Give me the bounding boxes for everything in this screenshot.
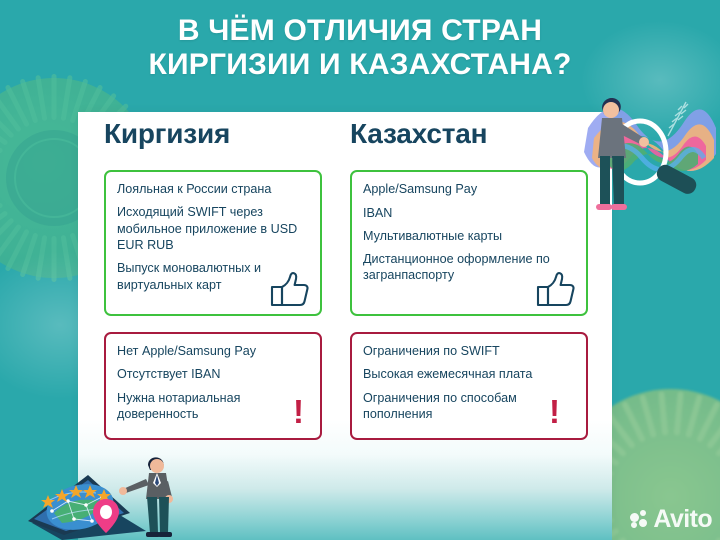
title-line-2: КИРГИЗИИ И КАЗАХСТАНА? xyxy=(0,48,720,82)
list-item: Мультивалютные карты xyxy=(363,228,576,244)
decorative-squiggle-icon xyxy=(648,96,698,146)
thumbs-up-icon xyxy=(534,270,576,308)
kyrgyzstan-pros-box: Лояльная к России страна Исходящий SWIFT… xyxy=(104,170,322,316)
avito-wordmark: Avito xyxy=(653,507,712,532)
list-item: Нет Apple/Samsung Pay xyxy=(117,343,310,359)
list-item: Нужна нотариальная доверенность xyxy=(117,390,310,423)
list-item: Отсутствует IBAN xyxy=(117,366,310,382)
list-item: Ограничения по способам пополнения xyxy=(363,390,576,423)
list-item: Высокая ежемесячная плата xyxy=(363,366,576,382)
list-item: Apple/Samsung Pay xyxy=(363,181,576,197)
kyrgyzstan-cons-box: Нет Apple/Samsung Pay Отсутствует IBAN Н… xyxy=(104,332,322,440)
list-item: Исходящий SWIFT через мобильное приложен… xyxy=(117,204,310,253)
avito-watermark: Avito xyxy=(630,507,712,532)
country-heading-kyrgyzstan: Киргизия xyxy=(104,118,230,150)
laptop-globe-businessman-illustration xyxy=(18,435,218,540)
infographic-canvas: В ЧЁМ ОТЛИЧИЯ СТРАН КИРГИЗИИ И КАЗАХСТАН… xyxy=(0,0,720,540)
title-line-1: В ЧЁМ ОТЛИЧИЯ СТРАН xyxy=(0,14,720,48)
avito-dots-logo xyxy=(630,510,649,529)
list-item: IBAN xyxy=(363,205,576,221)
page-title: В ЧЁМ ОТЛИЧИЯ СТРАН КИРГИЗИИ И КАЗАХСТАН… xyxy=(0,14,720,81)
exclamation-icon: ! xyxy=(293,395,304,428)
country-heading-kazakhstan: Казахстан xyxy=(350,118,487,150)
list-item: Лояльная к России страна xyxy=(117,181,310,197)
kyrgyzstan-cons-list: Нет Apple/Samsung Pay Отсутствует IBAN Н… xyxy=(106,334,320,430)
kazakhstan-cons-box: Ограничения по SWIFT Высокая ежемесячная… xyxy=(350,332,588,440)
list-item: Ограничения по SWIFT xyxy=(363,343,576,359)
exclamation-icon: ! xyxy=(549,395,560,428)
thumbs-up-icon xyxy=(268,270,310,308)
kazakhstan-pros-box: Apple/Samsung Pay IBAN Мультивалютные ка… xyxy=(350,170,588,316)
